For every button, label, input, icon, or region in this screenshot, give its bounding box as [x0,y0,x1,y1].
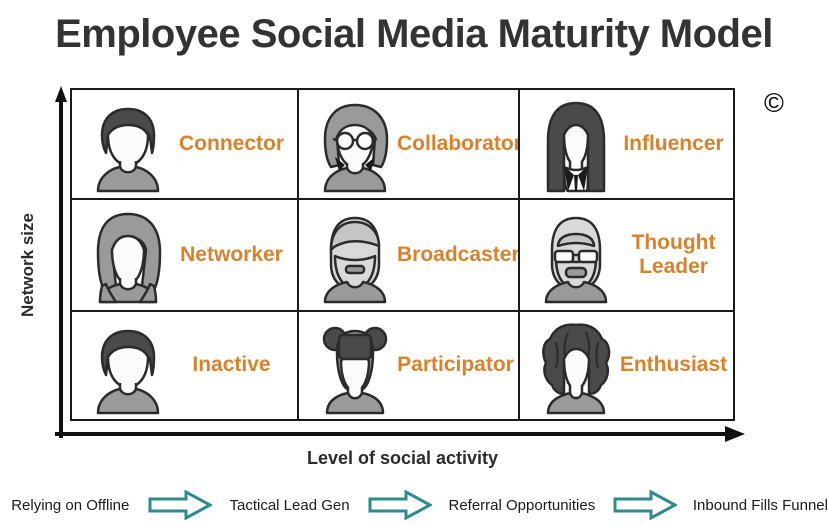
matrix-cell-label: Connector [170,132,297,156]
avatar-bearded-glasses-male-icon [534,206,618,304]
matrix-cell-label: Enthusiast [618,353,733,377]
matrix-cell-broadcaster[interactable]: Broadcaster [299,200,520,312]
y-axis [55,86,67,438]
matrix-cell-connector[interactable]: Connector [72,90,299,200]
matrix-cell-collaborator[interactable]: Collaborator [299,90,520,200]
maturity-matrix: Connector Collaborator Influence [70,88,735,421]
matrix-cell-networker[interactable]: Networker [72,200,299,312]
matrix-cell-label: Participator [397,353,518,377]
matrix-cell-enthusiast[interactable]: Enthusiast [520,312,733,419]
legend-stage-3-label: Referral Opportunities [448,497,595,514]
right-arrow-icon [148,490,212,520]
y-axis-arrow-icon [55,86,67,438]
legend-stage-1-label: Relying on Offline [11,497,129,514]
x-axis-label: Level of social activity [70,448,735,469]
avatar-curly-dark-hair-female-icon [534,317,618,415]
avatar-long-dark-hair-female-icon [534,95,618,193]
progression-legend: Relying on Offline Tactical Lead Gen Ref… [0,487,828,523]
legend-stage-4-label: Inbound Fills Funnel [693,497,828,514]
avatar-bearded-male-icon [313,206,397,304]
x-axis-arrow-icon [55,424,745,444]
matrix-cell-participator[interactable]: Participator [299,312,520,419]
matrix-cell-label: Influencer [618,132,733,156]
avatar-long-wavy-hair-female-icon [86,206,170,304]
avatar-short-dark-hair-male-icon [86,317,170,415]
right-arrow-icon [368,490,432,520]
matrix-cell-label: Inactive [170,353,297,377]
matrix-cell-label: Thought Leader [618,231,733,279]
matrix-cell-thought-leader[interactable]: Thought Leader [520,200,733,312]
avatar-short-dark-hair-male-icon [86,95,170,193]
legend-stage-2-label: Tactical Lead Gen [230,497,350,514]
matrix-cell-influencer[interactable]: Influencer [520,90,733,200]
y-axis-label: Network size [18,175,38,355]
copyright-icon: © [760,90,788,118]
matrix-cell-label: Networker [170,243,297,267]
avatar-bob-hair-glasses-female-icon [313,95,397,193]
matrix-cell-inactive[interactable]: Inactive [72,312,299,419]
matrix-cell-label: Collaborator [397,132,520,156]
matrix-cell-label: Broadcaster [397,243,520,267]
avatar-space-buns-female-icon [313,317,397,415]
x-axis [55,424,745,444]
page-title: Employee Social Media Maturity Model [0,12,828,57]
right-arrow-icon [613,490,677,520]
